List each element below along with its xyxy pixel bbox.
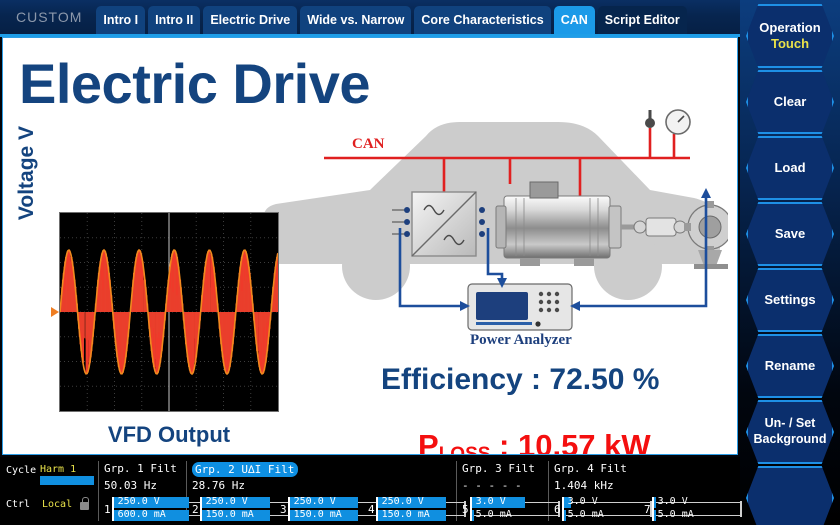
meter-value: 5.0 mA (568, 509, 604, 520)
channel-meter[interactable]: 1250.0 V600.0 mA (104, 497, 202, 521)
meter-value: 3.0 V (476, 496, 506, 507)
can-label: CAN (352, 136, 385, 152)
channel-meter[interactable]: 3250.0 V150.0 mA (280, 497, 378, 521)
meter-bars: 3.0 V5.0 mA (654, 497, 740, 521)
group-header[interactable]: Grp. 4 Filt (554, 462, 627, 475)
group-frequency: 1.404 kHz (554, 479, 614, 492)
efficiency-readout: Efficiency : 72.50 % (381, 363, 659, 397)
softkey-label: Rename (765, 358, 816, 374)
softkey-sublabel: Touch (771, 36, 809, 52)
group-frequency: 28.76 Hz (192, 479, 245, 492)
meter-row: 250.0 V (202, 497, 288, 508)
meter-row: 250.0 V (290, 497, 376, 508)
meter-row: 5.0 mA (472, 510, 558, 521)
channel-number: 1 (104, 503, 111, 516)
scope-svg (60, 213, 278, 411)
softkey-label: Un- / Set (765, 416, 816, 432)
content-canvas: Electric Drive (2, 37, 738, 455)
meter-fill (654, 510, 657, 521)
power-loss-readout: PLOSS : 10.57 kW (418, 428, 651, 455)
tab-intro-ii[interactable]: Intro II (148, 6, 200, 34)
scope-display[interactable] (59, 212, 279, 412)
group-frequency: - - - - - (462, 479, 522, 492)
meter-value: 5.0 mA (658, 509, 694, 520)
meter-row: 150.0 mA (290, 510, 376, 521)
ploss-symbol: P (418, 428, 439, 455)
meter-row: 3.0 V (472, 497, 558, 508)
power-analyzer-label: Power Analyzer (470, 332, 572, 348)
status-cycle-block: Cycle Harm 1 Ctrl Local (4, 457, 96, 525)
meter-row: 150.0 mA (378, 510, 464, 521)
power-analyzer-device (468, 284, 572, 330)
meter-value: 5.0 mA (476, 509, 512, 520)
softkey-load[interactable]: Load (746, 136, 834, 200)
tab-bar: CUSTOM Intro IIntro IIElectric DriveWide… (0, 0, 740, 34)
meter-row: 5.0 mA (564, 510, 650, 521)
cycle-bar (40, 476, 94, 485)
softkey-save[interactable]: Save (746, 202, 834, 266)
efficiency-label: Efficiency : (381, 363, 549, 396)
channel-number: 7 (644, 503, 651, 516)
cycle-label: Cycle (6, 465, 36, 476)
softkey-operation[interactable]: OperationTouch (746, 4, 834, 68)
group-frequency: 50.03 Hz (104, 479, 157, 492)
status-divider (98, 461, 99, 521)
status-bar: Cycle Harm 1 Ctrl Local Grp. 1 Filt50.03… (0, 457, 740, 525)
meter-value: 250.0 V (118, 496, 160, 507)
meter-bars: 3.0 V5.0 mA (564, 497, 650, 521)
scope-y-axis-label: Voltage V (15, 98, 39, 248)
group-header[interactable]: Grp. 2 U∆I Filt (192, 462, 298, 477)
meter-row: 250.0 V (378, 497, 464, 508)
application-window: CUSTOM Intro IIntro IIElectric DriveWide… (0, 0, 840, 525)
meter-row: 5.0 mA (654, 510, 740, 521)
channel-meter[interactable]: 2250.0 V150.0 mA (192, 497, 290, 521)
meter-row: 250.0 V (114, 497, 200, 508)
meter-value: 150.0 mA (382, 509, 430, 520)
channel-number: 2 (192, 503, 199, 516)
softkey-label: Settings (764, 292, 815, 308)
softkey-rename[interactable]: Rename (746, 334, 834, 398)
meter-bars: 250.0 V150.0 mA (202, 497, 288, 521)
tab-script-editor[interactable]: Script Editor (598, 6, 687, 34)
meter-row: 150.0 mA (202, 510, 288, 521)
meter-fill (564, 510, 567, 521)
meter-fill (472, 510, 475, 521)
softkey-label: Save (775, 226, 805, 242)
lock-icon[interactable] (80, 502, 89, 510)
channel-meter[interactable]: 73.0 V5.0 mA (644, 497, 742, 521)
meter-bars: 250.0 V150.0 mA (290, 497, 376, 521)
meter-value: 150.0 mA (294, 509, 342, 520)
meter-value: 600.0 mA (118, 509, 166, 520)
efficiency-value: 72.50 % (549, 363, 659, 396)
softkey-empty[interactable] (746, 466, 834, 525)
tab-wide-vs-narrow[interactable]: Wide vs. Narrow (300, 6, 411, 34)
channel-number: 3 (280, 503, 287, 516)
channel-number: 5 (462, 503, 469, 516)
meter-row: 3.0 V (564, 497, 650, 508)
channel-number: 6 (554, 503, 561, 516)
meter-row: 3.0 V (654, 497, 740, 508)
meter-value: 250.0 V (206, 496, 248, 507)
trigger-level-marker (51, 307, 59, 317)
softkey-sublabel: Background (754, 432, 827, 448)
meter-value: 250.0 V (382, 496, 424, 507)
meter-value: 250.0 V (294, 496, 336, 507)
drivetrain-diagram: CAN (258, 98, 728, 348)
ploss-value: : 10.57 kW (490, 428, 650, 455)
meter-bars: 250.0 V150.0 mA (378, 497, 464, 521)
meter-row: 600.0 mA (114, 510, 200, 521)
cycle-value[interactable]: Harm 1 (40, 464, 76, 475)
group-header[interactable]: Grp. 3 Filt (462, 462, 535, 475)
softkey-rail: OperationTouchClearLoadSaveSettingsRenam… (740, 0, 840, 525)
meter-bars: 250.0 V600.0 mA (114, 497, 200, 521)
ploss-subscript: LOSS (439, 444, 491, 455)
tab-electric-drive[interactable]: Electric Drive (203, 6, 297, 34)
meter-value: 3.0 V (568, 496, 598, 507)
channel-number: 4 (368, 503, 375, 516)
meter-bars: 3.0 V5.0 mA (472, 497, 558, 521)
channel-meter[interactable]: 63.0 V5.0 mA (554, 497, 652, 521)
softkey-settings[interactable]: Settings (746, 268, 834, 332)
meter-bracket-right (740, 501, 742, 517)
waveform-panel: Voltage V (21, 210, 281, 455)
channel-meter[interactable]: 4250.0 V150.0 mA (368, 497, 466, 521)
group-header[interactable]: Grp. 1 Filt (104, 462, 177, 475)
softkey-label: Clear (774, 94, 807, 110)
scope-caption: VFD Output (59, 422, 279, 448)
ctrl-value[interactable]: Local (42, 499, 72, 510)
softkey-clear[interactable]: Clear (746, 70, 834, 134)
meter-fill (654, 497, 657, 508)
diagram-svg: CAN (258, 98, 728, 348)
tab-can[interactable]: CAN (554, 6, 595, 34)
channel-meter[interactable]: 53.0 V5.0 mA (462, 497, 560, 521)
meter-value: 150.0 mA (206, 509, 254, 520)
custom-menu-label[interactable]: CUSTOM (6, 9, 96, 34)
softkey-un-set[interactable]: Un- / SetBackground (746, 400, 834, 464)
tab-core-characteristics[interactable]: Core Characteristics (414, 6, 550, 34)
ctrl-label: Ctrl (6, 499, 30, 510)
softkey-label: Load (774, 160, 805, 176)
softkey-label: Operation (759, 20, 820, 36)
sensor-icons (645, 110, 690, 134)
tab-intro-i[interactable]: Intro I (96, 6, 145, 34)
meter-value: 3.0 V (658, 496, 688, 507)
